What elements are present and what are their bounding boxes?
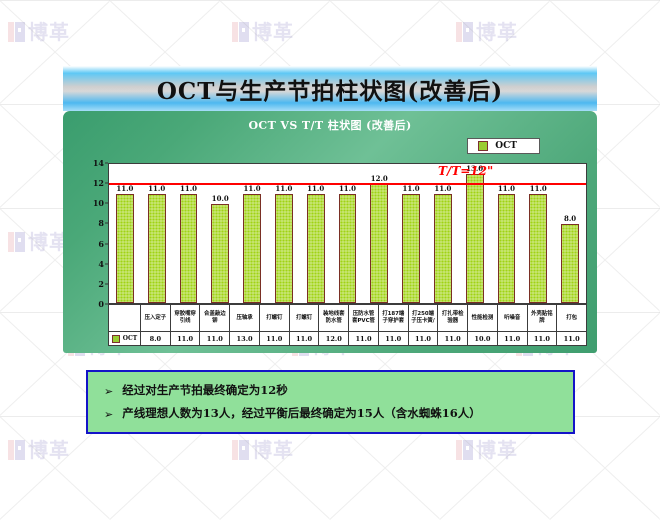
bar — [243, 194, 261, 303]
brand-mark-icon — [8, 22, 25, 42]
bar — [148, 194, 166, 303]
bar — [307, 194, 325, 303]
category-cell: 性能检测 — [468, 305, 498, 331]
value-cell: 13.0 — [230, 332, 260, 345]
bar-value-label: 8.0 — [554, 214, 586, 223]
y-axis: 02468101214 — [86, 163, 108, 304]
category-cell: 打包 — [557, 305, 586, 331]
takt-time-label: T/T=12" — [438, 164, 493, 178]
bar-cell: 11.0 — [109, 164, 141, 303]
bar — [498, 194, 516, 303]
bullet-arrow-icon: ➢ — [104, 386, 113, 397]
legend-label-oct: OCT — [495, 141, 517, 151]
bar-cell: 13.0 — [459, 164, 491, 303]
category-cell: 压入定子 — [141, 305, 171, 331]
bar — [370, 184, 388, 303]
category-row-header — [109, 305, 141, 331]
bar-value-label: 11.0 — [173, 184, 205, 193]
watermark-text: 博革 — [252, 440, 294, 460]
bar-cell: 11.0 — [395, 164, 427, 303]
value-cell: 11.0 — [409, 332, 439, 345]
bar-value-label: 11.0 — [522, 184, 554, 193]
value-cell: 11.0 — [498, 332, 528, 345]
watermark-logo: 博革 — [8, 22, 70, 42]
watermark-logo: 博革 — [232, 22, 294, 42]
conclusion-box: ➢经过对生产节拍最终确定为12秒➢产线理想人数为13人，经过平衡后最终确定为15… — [86, 370, 575, 434]
bar-cell: 10.0 — [204, 164, 236, 303]
bar-cell: 11.0 — [268, 164, 300, 303]
plot-area: 02468101214 11.011.011.010.011.011.011.0… — [86, 163, 587, 304]
watermark-logo: 博革 — [456, 22, 518, 42]
takt-time-line — [109, 183, 586, 185]
series-label: OCT — [123, 335, 137, 342]
watermark-logo: 博革 — [232, 440, 294, 460]
value-cell: 8.0 — [141, 332, 171, 345]
bar — [402, 194, 420, 303]
conclusion-text: 产线理想人数为13人，经过平衡后最终确定为15人（含水蜘蛛16人） — [122, 407, 481, 420]
bar-cell: 11.0 — [491, 164, 523, 303]
page-title: OCT与生产节拍柱状图(改善后) — [157, 72, 503, 106]
watermark-text: 博革 — [252, 22, 294, 42]
value-cell: 11.0 — [171, 332, 201, 345]
y-axis-tick-label: 14 — [93, 158, 104, 168]
y-axis-tick-label: 10 — [93, 198, 104, 208]
category-cell: 合盖敲边铆 — [200, 305, 230, 331]
series-row-header: OCT — [109, 332, 141, 345]
category-cell: 压轴承 — [230, 305, 260, 331]
watermark-text: 博革 — [28, 440, 70, 460]
category-cell: 穿胶嘴穿引线 — [171, 305, 201, 331]
bar — [529, 194, 547, 303]
category-cell: 打螺钉 — [290, 305, 320, 331]
value-cell: 11.0 — [528, 332, 558, 345]
category-cell: 听噪音 — [498, 305, 528, 331]
watermark-text: 博革 — [476, 440, 518, 460]
value-cell: 11.0 — [438, 332, 468, 345]
slide-title-banner: OCT与生产节拍柱状图(改善后) — [63, 66, 597, 111]
category-cell: 压防水管套PVC管 — [349, 305, 379, 331]
watermark-logo: 博革 — [456, 440, 518, 460]
brand-mark-icon — [232, 22, 249, 42]
category-cell: 打螺钉 — [260, 305, 290, 331]
y-axis-tick-label: 2 — [98, 279, 104, 289]
value-cell: 12.0 — [319, 332, 349, 345]
category-cell: 打250端子压卡簧/ — [409, 305, 439, 331]
brand-mark-icon — [8, 232, 25, 252]
value-cell: 11.0 — [260, 332, 290, 345]
bar-value-label: 12.0 — [363, 174, 395, 183]
bar-value-label: 11.0 — [300, 184, 332, 193]
y-axis-tick-label: 8 — [98, 218, 104, 228]
y-axis-tick-label: 12 — [93, 178, 104, 188]
table-row-categories: 压入定子穿胶嘴穿引线合盖敲边铆压轴承打螺钉打螺钉装地线套防水管压防水管套PVC管… — [109, 305, 586, 331]
chart-title: OCT VS T/T 柱状图 (改善后) — [63, 117, 597, 133]
bar — [561, 224, 579, 303]
bar — [180, 194, 198, 303]
bullet-arrow-icon: ➢ — [104, 409, 113, 420]
watermark-text: 博革 — [476, 22, 518, 42]
brand-mark-icon — [232, 440, 249, 460]
y-axis-tick-label: 4 — [98, 259, 104, 269]
bar-value-label: 11.0 — [491, 184, 523, 193]
watermark-logo: 博革 — [8, 232, 70, 252]
bar-cell: 11.0 — [173, 164, 205, 303]
brand-mark-icon — [456, 440, 473, 460]
bar-value-label: 11.0 — [141, 184, 173, 193]
chart-panel: OCT VS T/T 柱状图 (改善后) OCT 02468101214 11.… — [63, 111, 597, 353]
conclusion-item: ➢经过对生产节拍最终确定为12秒 — [104, 384, 557, 397]
bar-cell: 11.0 — [300, 164, 332, 303]
y-axis-tick-label: 6 — [98, 239, 104, 249]
bar — [211, 204, 229, 303]
value-cell: 11.0 — [349, 332, 379, 345]
value-cell: 11.0 — [379, 332, 409, 345]
value-cell: 11.0 — [290, 332, 320, 345]
bar — [339, 194, 357, 303]
value-cell: 11.0 — [200, 332, 230, 345]
value-cell: 11.0 — [557, 332, 586, 345]
legend-swatch-oct — [478, 141, 488, 151]
bar-cell: 11.0 — [332, 164, 364, 303]
bar-value-label: 11.0 — [236, 184, 268, 193]
brand-mark-icon — [8, 440, 25, 460]
bar — [434, 194, 452, 303]
chart-data-table: 压入定子穿胶嘴穿引线合盖敲边铆压轴承打螺钉打螺钉装地线套防水管压防水管套PVC管… — [108, 304, 587, 346]
bar-value-label: 11.0 — [268, 184, 300, 193]
value-cell: 10.0 — [468, 332, 498, 345]
brand-mark-icon — [456, 22, 473, 42]
category-cell: 打扎带检验器 — [438, 305, 468, 331]
category-cell: 打187端子穿护套 — [379, 305, 409, 331]
bar — [116, 194, 134, 303]
series-swatch-icon — [112, 335, 120, 343]
category-cell: 装地线套防水管 — [319, 305, 349, 331]
conclusion-item: ➢产线理想人数为13人，经过平衡后最终确定为15人（含水蜘蛛16人） — [104, 407, 557, 420]
bar-cell: 11.0 — [141, 164, 173, 303]
bar-cell: 11.0 — [427, 164, 459, 303]
table-row-values: OCT 8.011.011.013.011.011.012.011.011.01… — [109, 331, 586, 345]
bar — [466, 174, 484, 303]
bar-cell: 11.0 — [522, 164, 554, 303]
bar-cell: 11.0 — [236, 164, 268, 303]
bar-value-label: 11.0 — [109, 184, 141, 193]
bar — [275, 194, 293, 303]
conclusion-text: 经过对生产节拍最终确定为12秒 — [122, 384, 288, 397]
bar-cell: 12.0 — [363, 164, 395, 303]
y-axis-tick-label: 0 — [98, 299, 104, 309]
category-cell: 外壳贴铭牌 — [528, 305, 558, 331]
bar-value-label: 10.0 — [204, 194, 236, 203]
bar-cell: 8.0 — [554, 164, 586, 303]
bars-container: 11.011.011.010.011.011.011.011.012.011.0… — [108, 163, 587, 304]
bar-value-label: 11.0 — [395, 184, 427, 193]
bar-value-label: 11.0 — [427, 184, 459, 193]
watermark-logo: 博革 — [8, 440, 70, 460]
chart-legend: OCT — [467, 138, 540, 154]
watermark-text: 博革 — [28, 22, 70, 42]
bar-value-label: 11.0 — [332, 184, 364, 193]
